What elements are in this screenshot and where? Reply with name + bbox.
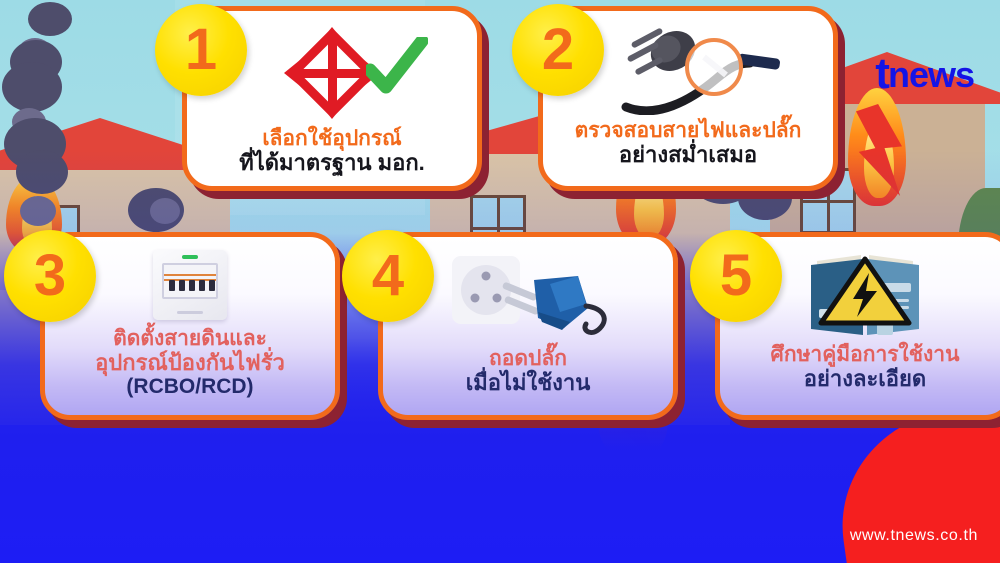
smoke-puff xyxy=(28,2,72,36)
breaker-switch xyxy=(189,280,195,291)
card-3-line-1: ติดตั้งสายดินและ xyxy=(95,327,285,351)
card-2-line-1: ตรวจสอบสายไฟและปลั๊ก xyxy=(575,119,802,143)
logo-news-text: news xyxy=(888,59,974,91)
card-1-caption: เลือกใช้อุปกรณ์ ที่ได้มาตรฐาน มอก. xyxy=(231,127,433,175)
card-1-line-2: ที่ได้มาตรฐาน มอก. xyxy=(239,151,425,176)
step-badge-4: 4 xyxy=(342,230,434,322)
step-number-5: 5 xyxy=(720,247,752,305)
breaker-switch xyxy=(169,280,175,291)
logo-t-mark: t xyxy=(875,56,888,91)
smoke-puff xyxy=(2,62,62,112)
green-check-icon xyxy=(366,37,428,101)
breaker-switch xyxy=(179,280,185,291)
card-4-line-1: ถอดปลั๊ก xyxy=(466,347,591,371)
card-4-artwork xyxy=(438,247,618,345)
card-5-line-1: ศึกษาคู่มือการใช้งาน xyxy=(771,343,960,367)
card-4-line-2: เมื่อไม่ใช้งาน xyxy=(466,371,591,396)
card-2-line-2: อย่างสม่ำเสมอ xyxy=(575,143,802,168)
plug-cable-magnifier-icon xyxy=(578,23,798,115)
breaker-switch xyxy=(209,280,215,291)
card-1-line-1: เลือกใช้อุปกรณ์ xyxy=(239,127,425,151)
tnews-logo[interactable]: t news xyxy=(875,56,974,91)
tis-vertical-bar xyxy=(328,33,337,113)
step-number-4: 4 xyxy=(372,247,404,305)
breaker-status-led xyxy=(182,255,198,259)
tis-arrow-left xyxy=(284,60,300,86)
card-2-artwork xyxy=(578,19,798,119)
website-url[interactable]: www.tnews.co.th xyxy=(850,527,978,545)
card-5-caption: ศึกษาคู่มือการใช้งาน อย่างละเอียด xyxy=(763,343,968,391)
manual-book-hazard-icon xyxy=(805,247,925,339)
step-badge-5: 5 xyxy=(690,230,782,322)
plug-cord xyxy=(585,306,604,332)
circuit-breaker-box-icon xyxy=(153,250,227,320)
step-badge-1: 1 xyxy=(155,4,247,96)
card-1-artwork xyxy=(284,21,380,125)
step-number-2: 2 xyxy=(542,21,574,79)
breaker-window xyxy=(162,263,218,299)
breaker-switch xyxy=(199,280,205,291)
step-badge-3: 3 xyxy=(4,230,96,322)
step-badge-2: 2 xyxy=(512,4,604,96)
card-4-caption: ถอดปลั๊ก เมื่อไม่ใช้งาน xyxy=(458,347,599,395)
card-3-caption: ติดตั้งสายดินและ อุปกรณ์ป้องกันไฟรั่ว (R… xyxy=(87,327,293,399)
magnifier-icon xyxy=(687,40,741,94)
step-number-3: 3 xyxy=(34,247,66,305)
step-number-1: 1 xyxy=(185,21,217,79)
tis-arrow-down xyxy=(319,103,345,119)
breaker-handle-slot xyxy=(177,311,203,314)
card-3-line-3: (RCBO/RCD) xyxy=(95,375,285,399)
breaker-rail xyxy=(164,274,216,276)
card-3-artwork xyxy=(153,245,227,325)
card-3-line-2: อุปกรณ์ป้องกันไฟรั่ว xyxy=(95,351,285,376)
card-5-line-2: อย่างละเอียด xyxy=(771,367,960,392)
card-2-caption: ตรวจสอบสายไฟและปลั๊ก อย่างสม่ำเสมอ xyxy=(567,119,810,167)
socket-unplug-icon xyxy=(438,250,618,342)
tis-arrow-up xyxy=(319,27,345,43)
card-5-artwork xyxy=(805,245,925,341)
